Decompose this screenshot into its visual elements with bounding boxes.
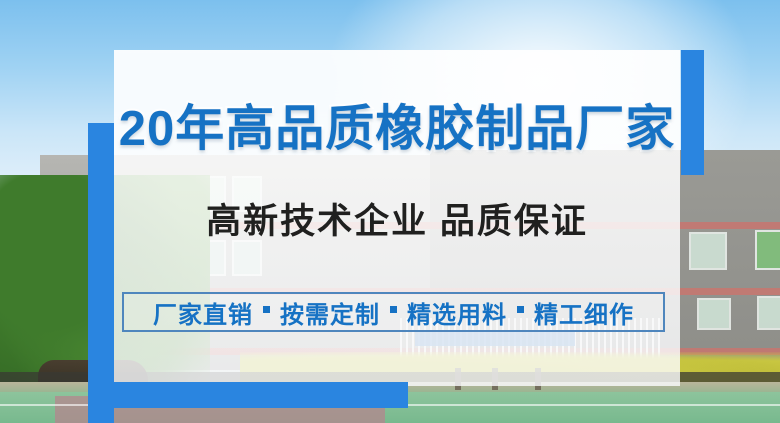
tagline-text: 厂家直销按需定制精选用料精工细作: [122, 292, 665, 332]
tagline-separator-icon: [263, 306, 270, 313]
tagline-separator-icon: [517, 306, 524, 313]
building-window: [689, 232, 727, 270]
tagline-item: 厂家直销: [153, 295, 253, 330]
building-window: [697, 298, 731, 330]
tagline-separator-icon: [390, 306, 397, 313]
tagline-item: 精选用料: [407, 295, 507, 330]
decor-bar-right: [681, 50, 704, 175]
decor-bar-left: [88, 123, 114, 423]
headline-subtitle: 高新技术企业 品质保证: [114, 198, 680, 246]
headline-title: 20年高品质橡胶制品厂家: [114, 98, 680, 160]
promo-banner: 20年高品质橡胶制品厂家 高新技术企业 品质保证 厂家直销按需定制精选用料精工细…: [0, 0, 780, 423]
building-window: [757, 296, 780, 330]
tagline-item: 精工细作: [534, 295, 634, 330]
decor-bar-bottom: [88, 382, 408, 408]
building-window: [755, 230, 780, 270]
tagline-item: 按需定制: [280, 295, 380, 330]
